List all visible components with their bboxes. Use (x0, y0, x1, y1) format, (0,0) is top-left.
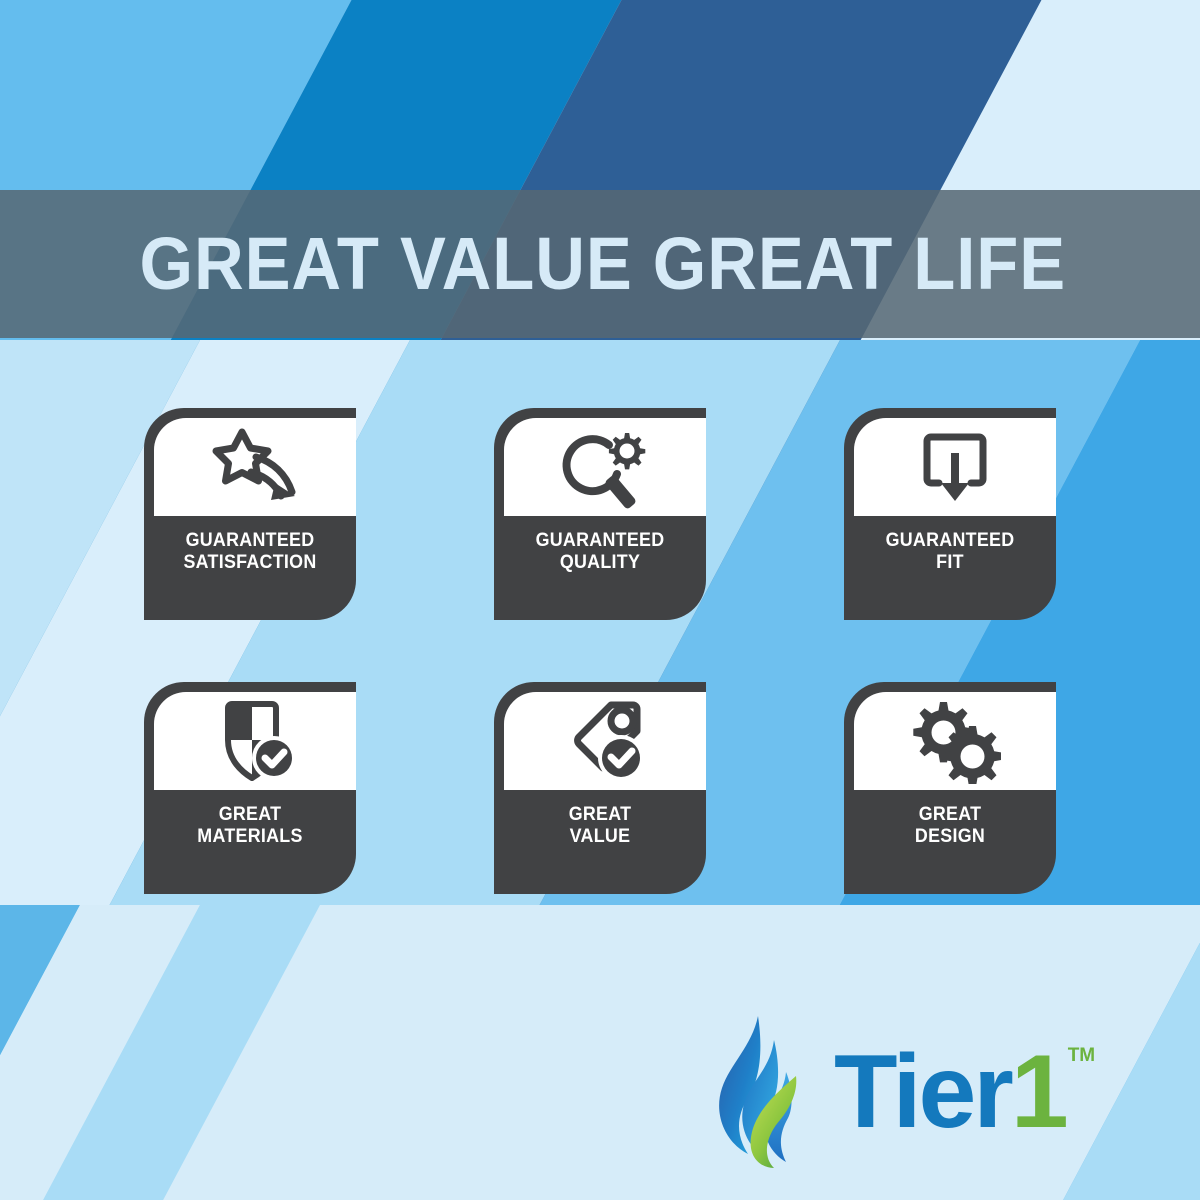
poster-canvas: GREAT VALUE GREAT LIFE GUARANTEED SATISF… (0, 0, 1200, 1200)
price-tag-check-icon (559, 698, 651, 784)
magnifier-gear-icon (557, 425, 653, 509)
trademark-symbol: TM (1068, 1046, 1095, 1065)
badge-icon-panel (154, 418, 356, 516)
box-down-arrow-icon (913, 425, 997, 509)
badge-guaranteed-fit[interactable]: GUARANTEED FIT (844, 408, 1056, 620)
badge-label: GREAT VALUE (500, 804, 699, 849)
badge-great-materials[interactable]: GREAT MATERIALS (144, 682, 356, 894)
logo-name-text: Tier (834, 1040, 1011, 1144)
badge-icon-panel (854, 692, 1056, 790)
badge-label: GUARANTEED QUALITY (500, 530, 699, 575)
headline-text: GREAT VALUE GREAT LIFE (42, 227, 1158, 301)
badge-icon-panel (504, 418, 706, 516)
badge-label: GUARANTEED FIT (850, 530, 1049, 575)
checkered-shield-check-icon (212, 698, 298, 784)
badge-guaranteed-quality[interactable]: GUARANTEED QUALITY (494, 408, 706, 620)
badge-icon-panel (504, 692, 706, 790)
headline-banner: GREAT VALUE GREAT LIFE (0, 190, 1200, 338)
badge-great-design[interactable]: GREAT DESIGN (844, 682, 1056, 894)
shooting-star-icon (209, 426, 301, 508)
badge-icon-panel (854, 418, 1056, 516)
badge-label: GREAT MATERIALS (150, 804, 349, 849)
badge-icon-panel (154, 692, 356, 790)
two-gears-icon (909, 698, 1001, 784)
logo-wordmark: Tier 1 TM (834, 1040, 1095, 1144)
logo-accent-digit: 1 (1011, 1040, 1067, 1144)
badge-label: GUARANTEED SATISFACTION (150, 530, 349, 575)
badge-great-value[interactable]: GREAT VALUE (494, 682, 706, 894)
badge-label: GREAT DESIGN (850, 804, 1049, 849)
badge-guaranteed-satisfaction[interactable]: GUARANTEED SATISFACTION (144, 408, 356, 620)
tier1-logo[interactable]: Tier 1 TM (700, 1012, 1170, 1172)
feature-badge-grid: GUARANTEED SATISFACTION GUARANTEED QUALI… (144, 408, 1056, 894)
flame-leaf-icon (700, 1012, 830, 1172)
